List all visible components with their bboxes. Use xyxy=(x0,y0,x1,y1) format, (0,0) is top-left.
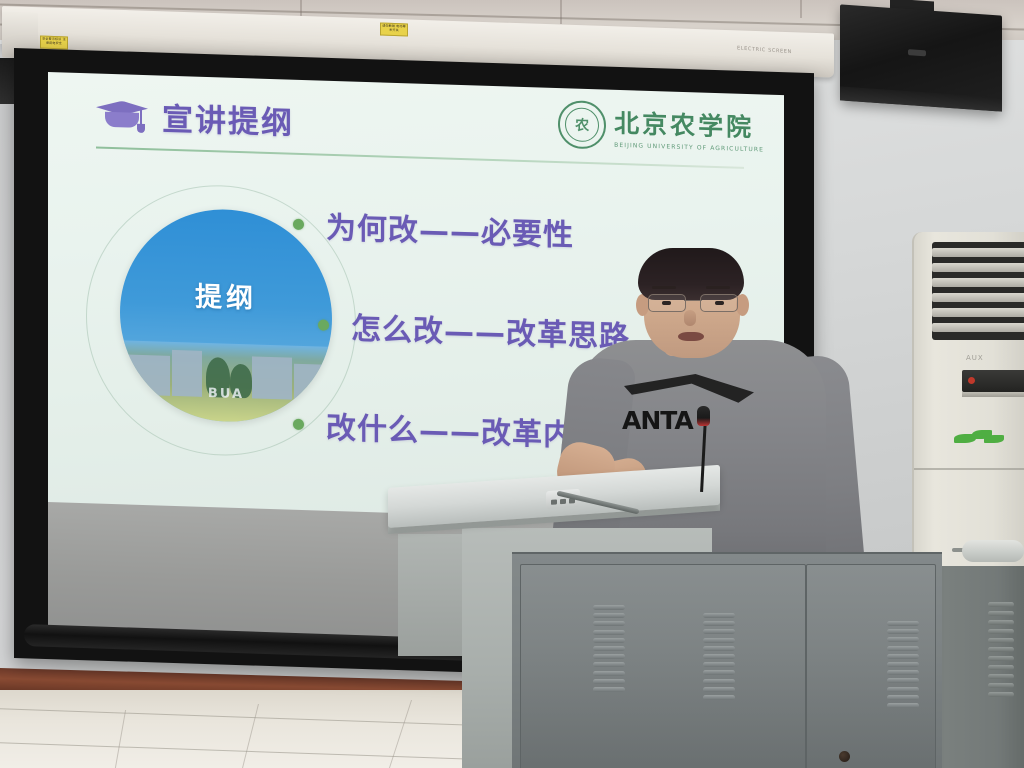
microphone-head-icon xyxy=(697,406,710,426)
bullet-dot-icon xyxy=(293,418,304,429)
presenter-mouth xyxy=(678,332,704,341)
slide-title: 宣讲提纲 xyxy=(162,94,294,143)
university-logo: 农 北京农学院 BEIJING UNIVERSITY OF AGRICULTUR… xyxy=(558,100,764,154)
ac-body-seam xyxy=(914,468,1024,470)
graduation-cap-icon xyxy=(96,94,148,136)
warning-label-left: 安全警示标识 注意用电安全 xyxy=(40,36,68,50)
bullet-text-1: 为何改——必要性 xyxy=(326,203,574,255)
ac-display-panel[interactable] xyxy=(962,370,1024,392)
cabinet-door-right[interactable] xyxy=(806,564,936,768)
air-conditioner-unit: AUX xyxy=(912,232,1024,568)
slide-title-row: 宣讲提纲 xyxy=(96,92,294,143)
warning-label-left-text: 安全警示标识 注意用电安全 xyxy=(41,37,67,46)
presenter-nose xyxy=(684,310,696,326)
podium-left-side xyxy=(398,534,472,656)
presenter-hair xyxy=(638,248,744,300)
cabinet-lock-icon[interactable] xyxy=(839,751,850,762)
ac-trim-strip xyxy=(962,392,1024,397)
wall-speaker xyxy=(840,4,1002,111)
circle-label: 提纲 xyxy=(120,272,332,318)
presenter-right-brow xyxy=(706,286,730,289)
campus-photo-caption: BUA xyxy=(208,386,244,402)
cabinet-vent xyxy=(887,621,919,717)
bullet-item-1: 为何改——必要性 xyxy=(293,202,574,255)
warning-label-right-text: 请勿触碰 电动幕布开关 xyxy=(381,24,407,33)
speaker-brand-plate xyxy=(908,49,926,56)
seal-glyph: 农 xyxy=(575,115,589,135)
ac-drain-hose xyxy=(962,540,1024,562)
housing-brand-text: ELECTRIC SCREEN xyxy=(737,45,792,55)
university-name-cn: 北京农学院 xyxy=(614,103,764,144)
cabinet-door-left[interactable] xyxy=(520,564,806,768)
ac-air-louvers xyxy=(932,242,1024,340)
shirt-brand-logo: ANTA xyxy=(618,370,758,440)
ac-brand-text: AUX xyxy=(966,354,984,362)
ac-power-led-icon xyxy=(968,377,975,384)
university-seal-icon: 农 xyxy=(558,100,606,150)
ac-base-vent xyxy=(988,602,1014,706)
university-logo-text: 北京农学院 BEIJING UNIVERSITY OF AGRICULTURE xyxy=(614,103,764,153)
bullet-item-3: 改什么——改革内容 xyxy=(293,402,605,456)
leaf-sticker-icon xyxy=(954,428,1006,446)
bullet-dot-icon xyxy=(318,319,329,330)
shirt-brand-text: ANTA xyxy=(622,406,693,435)
presenter-left-brow xyxy=(652,286,676,289)
cabinet-vent xyxy=(593,605,625,701)
eyeglasses-icon xyxy=(646,294,740,310)
warning-label-right: 请勿触碰 电动幕布开关 xyxy=(380,23,408,37)
equipment-cabinet xyxy=(512,552,942,768)
cabinet-vent xyxy=(703,613,735,709)
bullet-dot-icon xyxy=(293,218,304,229)
classroom-scene: ELECTRIC SCREEN 安全警示标识 注意用电安全 请勿触碰 电动幕布开… xyxy=(0,0,1024,768)
